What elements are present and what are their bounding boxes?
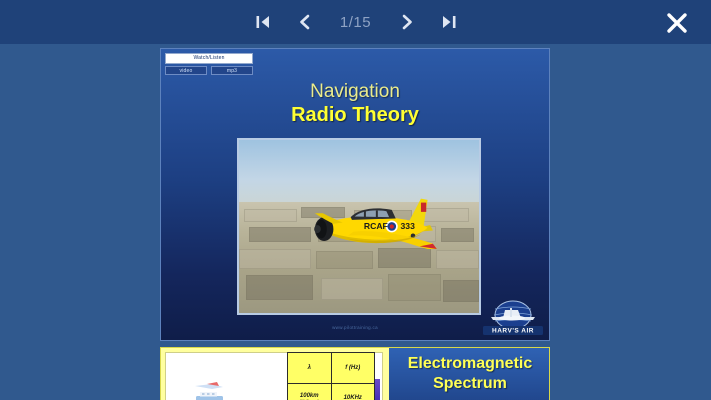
watch-listen-panel: Watch/Listen video mp3 — [165, 53, 253, 75]
harvs-air-logo: HARV'S AIR — [483, 298, 543, 336]
chevron-right-icon[interactable] — [394, 9, 420, 35]
slide-subtitle: Navigation — [161, 81, 549, 103]
skip-to-first-icon[interactable] — [250, 9, 276, 35]
close-icon[interactable] — [663, 9, 691, 37]
skip-to-last-icon[interactable] — [436, 9, 462, 35]
viewer-toolbar: 1/15 — [0, 0, 711, 44]
slide-2-title-line1: Electromagnetic — [389, 354, 550, 374]
slide-title: Radio Theory — [161, 104, 549, 127]
table-row: 100km (Mt. Everest) 10KHz — [288, 383, 375, 400]
wavelength-frequency-table: λ f (Hz) 100km (Mt. Everest) 10KHz — [287, 352, 375, 400]
presentation-viewer: 1/15 Watch/Listen — [0, 0, 711, 400]
mp3-button[interactable]: mp3 — [211, 66, 253, 75]
slide-2-title-line2: Spectrum — [389, 374, 550, 394]
chevron-left-icon[interactable] — [292, 9, 318, 35]
video-button[interactable]: video — [165, 66, 207, 75]
svg-text:HARV'S AIR: HARV'S AIR — [492, 328, 534, 335]
table-header-frequency: f (Hz) — [331, 353, 375, 384]
svg-text:RCAF: RCAF — [364, 222, 388, 232]
page-indicator: 1/15 — [334, 14, 378, 31]
slide-2-title: Electromagnetic Spectrum — [389, 348, 550, 400]
table-header-row: λ f (Hz) — [288, 353, 375, 384]
slides-scroll-area[interactable]: Watch/Listen video mp3 Navigation Radio … — [0, 44, 711, 400]
aircraft-ship-illustration — [192, 381, 234, 400]
cell-frequency: 10KHz — [331, 383, 375, 400]
svg-text:333: 333 — [401, 222, 416, 232]
page-navigation-group: 1/15 — [250, 9, 462, 35]
table-header-lambda: λ — [288, 353, 332, 384]
slide-2[interactable]: Long Wavelength Low Frequency Low Energy — [160, 347, 550, 400]
aircraft-illustration: RCAF 333 — [282, 188, 464, 268]
aircraft-photo: RCAF 333 — [237, 138, 481, 315]
watch-listen-buttons: video mp3 — [165, 66, 253, 75]
cell-wavelength: 100km (Mt. Everest) — [288, 383, 332, 400]
watch-listen-label: Watch/Listen — [165, 53, 253, 64]
slide-1[interactable]: Watch/Listen video mp3 Navigation Radio … — [160, 48, 550, 341]
